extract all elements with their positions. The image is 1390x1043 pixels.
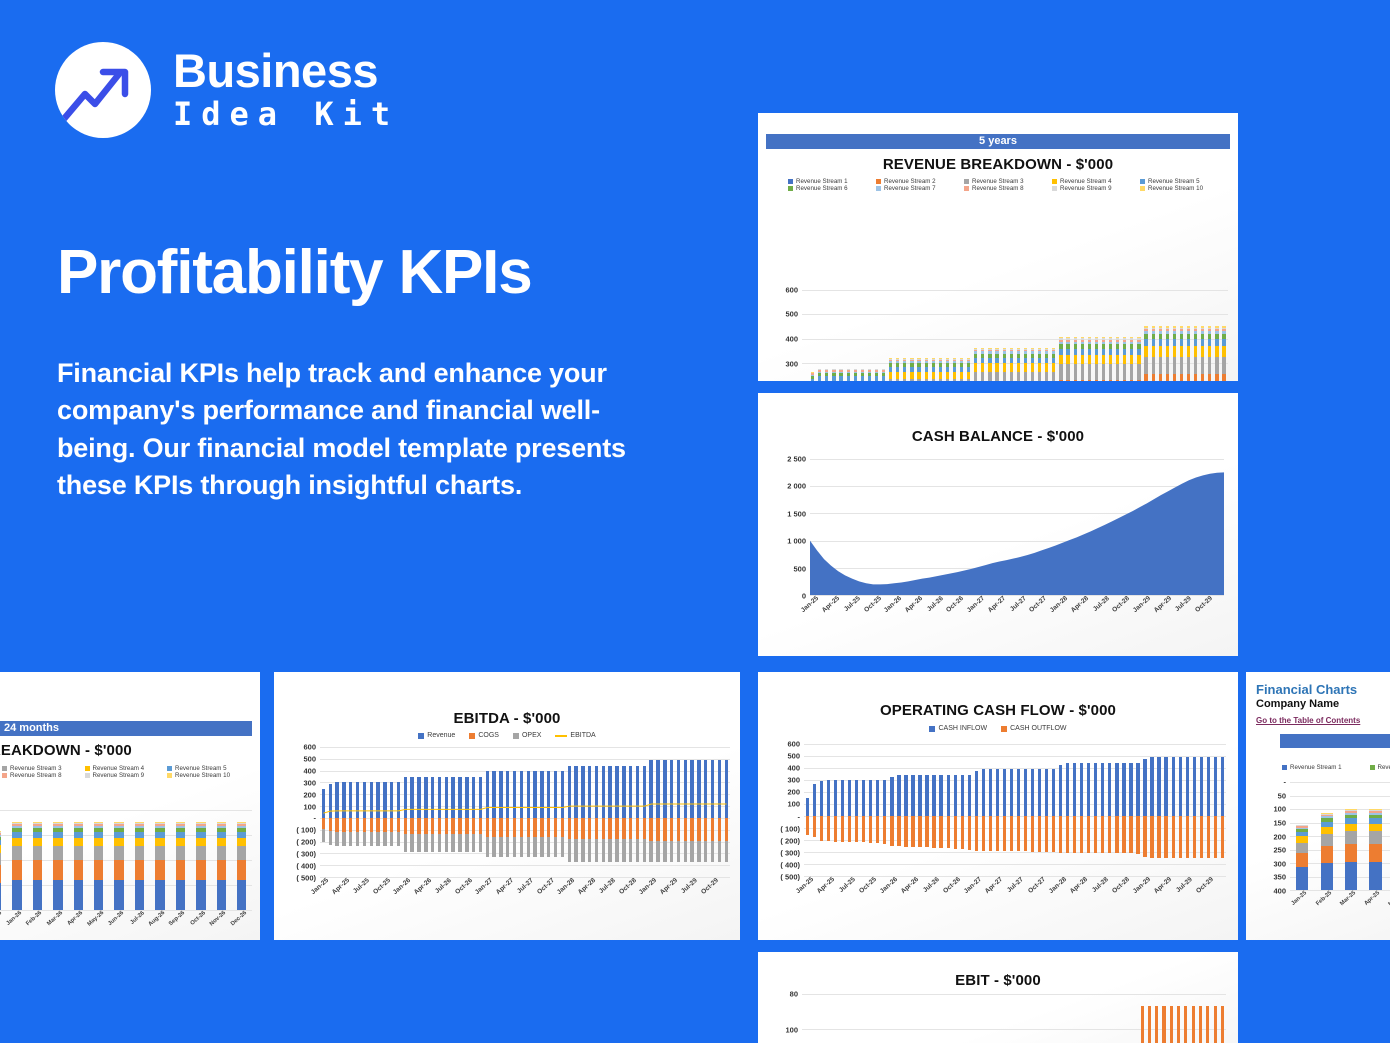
bar-slot[interactable] (1221, 290, 1228, 381)
bar-slot[interactable] (923, 290, 930, 381)
bar-slot[interactable] (0, 810, 7, 910)
bar-slot[interactable] (191, 810, 211, 910)
bar-slot[interactable] (846, 744, 853, 876)
bar-slot[interactable] (1164, 290, 1171, 381)
bar-slot[interactable] (1198, 744, 1205, 876)
bar-slot[interactable] (859, 290, 866, 381)
bar-slot[interactable] (1135, 290, 1142, 381)
stacked-bar[interactable] (839, 369, 842, 381)
stacked-bar[interactable] (1031, 348, 1034, 381)
stacked-bar[interactable] (155, 822, 164, 910)
bar[interactable] (1170, 1006, 1173, 1043)
bar[interactable] (1206, 1006, 1209, 1043)
bar-slot[interactable] (937, 290, 944, 381)
stacked-bar[interactable] (1137, 337, 1140, 381)
bar-slot[interactable] (1146, 994, 1153, 1043)
bar-slot[interactable] (1079, 290, 1086, 381)
bar-slot[interactable] (1001, 290, 1008, 381)
bar[interactable] (1148, 1006, 1151, 1043)
bar-slot[interactable] (1128, 290, 1135, 381)
bar-slot[interactable] (1085, 744, 1092, 876)
stacked-bar[interactable] (0, 831, 1, 910)
stacked-bar[interactable] (1074, 337, 1077, 381)
bar[interactable] (1184, 1006, 1187, 1043)
legend-item[interactable]: Revenue Stream 6 (1370, 764, 1390, 771)
bar[interactable] (1192, 1006, 1195, 1043)
legend-item[interactable]: Revenue Stream 7 (876, 185, 964, 192)
bar-slot[interactable] (966, 744, 973, 876)
stacked-bar[interactable] (1045, 348, 1048, 381)
bar-slot[interactable] (1185, 290, 1192, 381)
bar-slot[interactable] (852, 290, 859, 381)
stacked-bar[interactable] (882, 369, 885, 381)
stacked-bar[interactable] (903, 358, 906, 381)
bar-slot[interactable] (1190, 994, 1197, 1043)
bar-slot[interactable] (1205, 744, 1212, 876)
bar[interactable] (1214, 1006, 1217, 1043)
bar-slot[interactable] (802, 290, 809, 381)
bar-slot[interactable] (959, 744, 966, 876)
stacked-bar[interactable] (1345, 809, 1357, 890)
bar-slot[interactable] (973, 744, 980, 876)
stacked-bar[interactable] (832, 369, 835, 381)
bar-slot[interactable] (129, 810, 149, 910)
bar-slot[interactable] (1171, 290, 1178, 381)
bar[interactable] (1177, 1006, 1180, 1043)
stacked-bar[interactable] (1038, 348, 1041, 381)
legend-item[interactable]: OPEX (513, 732, 541, 739)
bar-slot[interactable] (1131, 994, 1138, 1043)
stacked-bar[interactable] (1159, 326, 1162, 381)
bar-slot[interactable] (1029, 994, 1036, 1043)
stacked-bar[interactable] (114, 822, 123, 910)
bar-slot[interactable] (909, 744, 916, 876)
bar-slot[interactable] (853, 744, 860, 876)
legend-item[interactable]: Revenue Stream 10 (167, 772, 250, 779)
bar-slot[interactable] (1212, 994, 1219, 1043)
stacked-bar[interactable] (974, 348, 977, 381)
bar-slot[interactable] (994, 744, 1001, 876)
stacked-bar[interactable] (995, 348, 998, 381)
bar-slot[interactable] (1022, 290, 1029, 381)
bar-slot[interactable] (986, 290, 993, 381)
bar-slot[interactable] (972, 290, 979, 381)
bar-slot[interactable] (875, 994, 882, 1043)
stacked-bar[interactable] (1102, 337, 1105, 381)
bar-slot[interactable] (860, 744, 867, 876)
bar-slot[interactable] (1134, 744, 1141, 876)
bar-slot[interactable] (1149, 744, 1156, 876)
bar-slot[interactable] (1043, 994, 1050, 1043)
bar-slot[interactable] (1182, 994, 1189, 1043)
bar-slot[interactable] (1008, 290, 1015, 381)
stacked-bar[interactable] (1152, 326, 1155, 381)
legend-item[interactable]: Revenue Stream 1 (1282, 764, 1370, 771)
stacked-bar[interactable] (237, 822, 246, 910)
stacked-bar[interactable] (33, 822, 42, 910)
stacked-bar[interactable] (917, 358, 920, 381)
legend-item[interactable]: Revenue Stream 2 (876, 178, 964, 185)
bar-slot[interactable] (818, 744, 825, 876)
stacked-bar[interactable] (932, 358, 935, 381)
bar-slot[interactable] (853, 994, 860, 1043)
bar-slot[interactable] (1021, 994, 1028, 1043)
bar-slot[interactable] (1086, 290, 1093, 381)
bar-slot[interactable] (1092, 744, 1099, 876)
bar-slot[interactable] (1073, 994, 1080, 1043)
bar-slot[interactable] (1001, 744, 1008, 876)
stacked-bar[interactable] (896, 358, 899, 381)
bar-slot[interactable] (1008, 744, 1015, 876)
stacked-bar[interactable] (1369, 809, 1381, 890)
bar-slot[interactable] (916, 290, 923, 381)
stacked-bar[interactable] (925, 358, 928, 381)
stacked-bar[interactable] (811, 372, 814, 381)
bar-slot[interactable] (1043, 744, 1050, 876)
bar-slot[interactable] (1178, 290, 1185, 381)
bar-slot[interactable] (952, 744, 959, 876)
stacked-bar[interactable] (1173, 326, 1176, 381)
bar-slot[interactable] (231, 810, 251, 910)
bar-slot[interactable] (888, 744, 895, 876)
stacked-bar[interactable] (868, 369, 871, 381)
stacked-bar[interactable] (1095, 337, 1098, 381)
bar-slot[interactable] (945, 744, 952, 876)
bar-slot[interactable] (1212, 744, 1219, 876)
legend-item[interactable]: EBITDA (555, 732, 595, 739)
bar-slot[interactable] (89, 810, 109, 910)
bar[interactable] (1162, 1006, 1165, 1043)
bar-slot[interactable] (832, 744, 839, 876)
bar-slot[interactable] (150, 810, 170, 910)
bar-slot[interactable] (823, 290, 830, 381)
stacked-bar[interactable] (53, 822, 62, 910)
bar-slot[interactable] (1290, 782, 1314, 890)
bar-slot[interactable] (837, 290, 844, 381)
bar-slot[interactable] (917, 744, 924, 876)
bar-slot[interactable] (1065, 994, 1072, 1043)
bar-slot[interactable] (965, 290, 972, 381)
bar-slot[interactable] (846, 994, 853, 1043)
legend-item[interactable]: Revenue (418, 732, 455, 739)
bar-slot[interactable] (912, 994, 919, 1043)
bar-slot[interactable] (1150, 290, 1157, 381)
bar-slot[interactable] (1064, 290, 1071, 381)
bar-slot[interactable] (1036, 994, 1043, 1043)
bar-slot[interactable] (68, 810, 88, 910)
legend-item[interactable]: Revenue Stream 6 (788, 185, 876, 192)
bar-slot[interactable] (1015, 290, 1022, 381)
stacked-bar[interactable] (946, 358, 949, 381)
bar-slot[interactable] (951, 290, 958, 381)
bar-slot[interactable] (816, 290, 823, 381)
bar-slot[interactable] (963, 994, 970, 1043)
bar-slot[interactable] (1050, 744, 1057, 876)
stacked-bar[interactable] (12, 822, 21, 910)
bar-slot[interactable] (938, 744, 945, 876)
bar-slot[interactable] (861, 994, 868, 1043)
bar-slot[interactable] (979, 290, 986, 381)
stacked-bar[interactable] (217, 822, 226, 910)
stacked-bar[interactable] (1109, 337, 1112, 381)
bar-slot[interactable] (109, 810, 129, 910)
bar-slot[interactable] (873, 290, 880, 381)
bar-slot[interactable] (908, 290, 915, 381)
bar-slot[interactable] (867, 744, 874, 876)
legend-item[interactable]: Revenue Stream 1 (788, 178, 876, 185)
stacked-bar[interactable] (1208, 326, 1211, 381)
bar-slot[interactable] (1007, 994, 1014, 1043)
bar-slot[interactable] (895, 744, 902, 876)
bar-slot[interactable] (1014, 994, 1021, 1043)
stacked-bar[interactable] (953, 358, 956, 381)
bar-slot[interactable] (1050, 290, 1057, 381)
bar-slot[interactable] (809, 994, 816, 1043)
legend-item[interactable]: Revenue Stream 5 (167, 765, 250, 772)
bar-slot[interactable] (874, 744, 881, 876)
bar-slot[interactable] (839, 744, 846, 876)
bar-slot[interactable] (1100, 290, 1107, 381)
stacked-bar[interactable] (1321, 813, 1333, 890)
stacked-bar[interactable] (1010, 348, 1013, 381)
bar-slot[interactable] (994, 290, 1001, 381)
stacked-bar[interactable] (1052, 348, 1055, 381)
bar-slot[interactable] (1043, 290, 1050, 381)
bar-slot[interactable] (1095, 994, 1102, 1043)
stacked-bar[interactable] (196, 822, 205, 910)
bar-slot[interactable] (1109, 994, 1116, 1043)
bar-slot[interactable] (924, 744, 931, 876)
bar-slot[interactable] (811, 744, 818, 876)
bar-slot[interactable] (817, 994, 824, 1043)
bar-slot[interactable] (1080, 994, 1087, 1043)
stacked-bar[interactable] (1123, 337, 1126, 381)
bar-slot[interactable] (1087, 994, 1094, 1043)
bar-slot[interactable] (970, 994, 977, 1043)
bar-slot[interactable] (1127, 744, 1134, 876)
bar[interactable] (1221, 1006, 1224, 1043)
bar-slot[interactable] (1029, 744, 1036, 876)
bar[interactable] (1199, 1006, 1202, 1043)
bar-slot[interactable] (1157, 290, 1164, 381)
stacked-bar[interactable] (861, 369, 864, 381)
bar-slot[interactable] (1072, 290, 1079, 381)
legend-item[interactable]: Revenue Stream 8 (964, 185, 1052, 192)
bar-slot[interactable] (1156, 744, 1163, 876)
bar-slot[interactable] (930, 290, 937, 381)
legend-item[interactable]: Revenue Stream 3 (2, 765, 85, 772)
bar-slot[interactable] (211, 810, 231, 910)
bar-slot[interactable] (1036, 290, 1043, 381)
stacked-bar[interactable] (1130, 337, 1133, 381)
bar-slot[interactable] (1121, 290, 1128, 381)
bar-slot[interactable] (1153, 994, 1160, 1043)
stacked-bar[interactable] (94, 822, 103, 910)
bar-slot[interactable] (1113, 744, 1120, 876)
bar-slot[interactable] (1057, 290, 1064, 381)
stacked-bar[interactable] (1017, 348, 1020, 381)
stacked-bar[interactable] (1296, 825, 1308, 890)
bar-slot[interactable] (880, 290, 887, 381)
stacked-bar[interactable] (1066, 337, 1069, 381)
stacked-bar[interactable] (967, 358, 970, 381)
bar-slot[interactable] (1192, 290, 1199, 381)
bar-slot[interactable] (1120, 744, 1127, 876)
bar-slot[interactable] (904, 994, 911, 1043)
bar-slot[interactable] (897, 994, 904, 1043)
bar-slot[interactable] (992, 994, 999, 1043)
legend-item[interactable]: CASH INFLOW (929, 725, 987, 732)
bar-slot[interactable] (1219, 744, 1226, 876)
stacked-bar[interactable] (1180, 326, 1183, 381)
bar-slot[interactable] (1114, 290, 1121, 381)
legend-item[interactable]: Revenue Stream 4 (85, 765, 168, 772)
bar-slot[interactable] (1197, 994, 1204, 1043)
bar-slot[interactable] (881, 744, 888, 876)
stacked-bar[interactable] (1187, 326, 1190, 381)
bar-slot[interactable] (1204, 994, 1211, 1043)
bar-slot[interactable] (1071, 744, 1078, 876)
stacked-bar[interactable] (910, 358, 913, 381)
bar-slot[interactable] (824, 994, 831, 1043)
bar-slot[interactable] (1029, 290, 1036, 381)
legend-item[interactable]: Revenue Stream 3 (964, 178, 1052, 185)
bar-slot[interactable] (170, 810, 190, 910)
stacked-bar[interactable] (818, 369, 821, 381)
bar-slot[interactable] (1213, 290, 1220, 381)
bar-slot[interactable] (839, 994, 846, 1043)
bar-slot[interactable] (1314, 782, 1338, 890)
stacked-bar[interactable] (74, 822, 83, 910)
stacked-bar[interactable] (1116, 337, 1119, 381)
bar-slot[interactable] (1099, 744, 1106, 876)
bar[interactable] (1141, 1006, 1144, 1043)
bar-slot[interactable] (1124, 994, 1131, 1043)
bar-slot[interactable] (1175, 994, 1182, 1043)
stacked-bar[interactable] (1222, 326, 1225, 381)
bar-slot[interactable] (926, 994, 933, 1043)
bar-slot[interactable] (1022, 744, 1029, 876)
legend-item[interactable]: Revenue Stream 9 (1052, 185, 1140, 192)
stacked-bar[interactable] (960, 358, 963, 381)
stacked-bar[interactable] (847, 369, 850, 381)
bar-slot[interactable] (901, 290, 908, 381)
bar-slot[interactable] (941, 994, 948, 1043)
stacked-bar[interactable] (889, 358, 892, 381)
bar-slot[interactable] (1163, 744, 1170, 876)
bar-slot[interactable] (802, 994, 809, 1043)
legend-item[interactable]: Revenue Stream 10 (1140, 185, 1228, 192)
bar-slot[interactable] (868, 994, 875, 1043)
bar-slot[interactable] (931, 744, 938, 876)
bar-slot[interactable] (1015, 744, 1022, 876)
bar-slot[interactable] (958, 290, 965, 381)
bar-slot[interactable] (1102, 994, 1109, 1043)
bar-slot[interactable] (866, 290, 873, 381)
bar-slot[interactable] (830, 290, 837, 381)
legend-item[interactable]: Revenue Stream 8 (2, 772, 85, 779)
bar-slot[interactable] (1093, 290, 1100, 381)
stacked-bar[interactable] (1059, 337, 1062, 381)
bar-slot[interactable] (1051, 994, 1058, 1043)
stacked-bar[interactable] (825, 369, 828, 381)
bar-slot[interactable] (1064, 744, 1071, 876)
bar-slot[interactable] (1199, 290, 1206, 381)
bar-slot[interactable] (825, 744, 832, 876)
stacked-bar[interactable] (1088, 337, 1091, 381)
bar-slot[interactable] (987, 744, 994, 876)
bar-slot[interactable] (902, 744, 909, 876)
stacked-bar[interactable] (135, 822, 144, 910)
bar-slot[interactable] (7, 810, 27, 910)
stacked-bar[interactable] (854, 369, 857, 381)
bar-slot[interactable] (948, 994, 955, 1043)
legend-item[interactable]: CASH OUTFLOW (1001, 725, 1066, 732)
legend-item[interactable]: Revenue Stream 4 (1052, 178, 1140, 185)
bar-slot[interactable] (1184, 744, 1191, 876)
stacked-bar[interactable] (939, 358, 942, 381)
bar-slot[interactable] (882, 994, 889, 1043)
stacked-bar[interactable] (1201, 326, 1204, 381)
bar-slot[interactable] (1170, 744, 1177, 876)
bar-slot[interactable] (1107, 290, 1114, 381)
bar-slot[interactable] (1116, 994, 1123, 1043)
bar-slot[interactable] (1177, 744, 1184, 876)
bar-slot[interactable] (956, 994, 963, 1043)
stacked-bar[interactable] (1194, 326, 1197, 381)
bar-slot[interactable] (1206, 290, 1213, 381)
bar-slot[interactable] (999, 994, 1006, 1043)
bar-slot[interactable] (845, 290, 852, 381)
bar-slot[interactable] (1036, 744, 1043, 876)
stacked-bar[interactable] (981, 348, 984, 381)
bar-slot[interactable] (985, 994, 992, 1043)
legend-item[interactable]: COGS (469, 732, 499, 739)
legend-item[interactable]: Revenue Stream 5 (1140, 178, 1228, 185)
bar-slot[interactable] (831, 994, 838, 1043)
bar-slot[interactable] (944, 290, 951, 381)
bar[interactable] (1155, 1006, 1158, 1043)
bar-slot[interactable] (1138, 994, 1145, 1043)
stacked-bar[interactable] (1166, 326, 1169, 381)
stacked-bar[interactable] (1024, 348, 1027, 381)
bar-slot[interactable] (1339, 782, 1363, 890)
bar-slot[interactable] (894, 290, 901, 381)
stacked-bar[interactable] (176, 822, 185, 910)
bar-slot[interactable] (887, 290, 894, 381)
bar-slot[interactable] (809, 290, 816, 381)
stacked-bar[interactable] (988, 348, 991, 381)
stacked-bar[interactable] (1003, 348, 1006, 381)
bar-slot[interactable] (980, 744, 987, 876)
bar-slot[interactable] (1363, 782, 1387, 890)
bar-slot[interactable] (978, 994, 985, 1043)
bar-slot[interactable] (919, 994, 926, 1043)
legend-item[interactable]: Revenue Stream 9 (85, 772, 168, 779)
bar-slot[interactable] (1142, 744, 1149, 876)
bar-slot[interactable] (1058, 994, 1065, 1043)
bar-slot[interactable] (890, 994, 897, 1043)
bar-slot[interactable] (1078, 744, 1085, 876)
stacked-bar[interactable] (875, 369, 878, 381)
bar-slot[interactable] (804, 744, 811, 876)
bar-slot[interactable] (1106, 744, 1113, 876)
bar-slot[interactable] (48, 810, 68, 910)
bar-slot[interactable] (1143, 290, 1150, 381)
bar-slot[interactable] (1219, 994, 1226, 1043)
bar-slot[interactable] (1057, 744, 1064, 876)
stacked-bar[interactable] (1081, 337, 1084, 381)
